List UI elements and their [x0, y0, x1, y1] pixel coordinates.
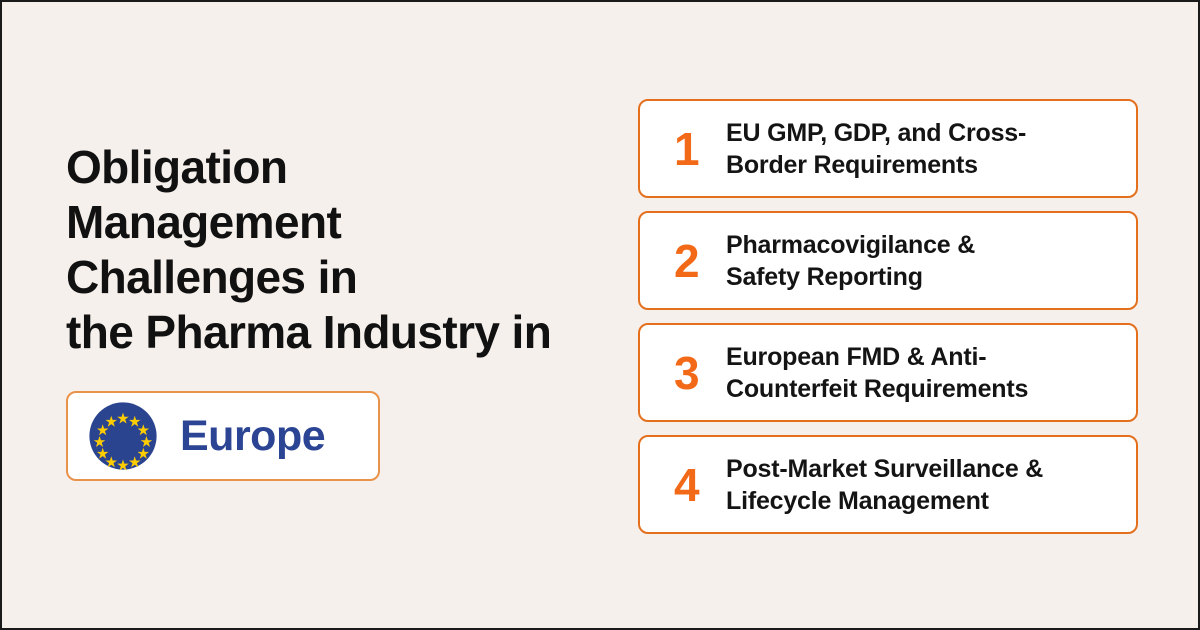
card-number: 2: [674, 238, 726, 284]
challenge-card[interactable]: 1 EU GMP, GDP, and Cross- Border Require…: [638, 99, 1138, 198]
headline-block: Obligation Management Challenges in the …: [66, 140, 606, 360]
card-label: Pharmacovigilance & Safety Reporting: [726, 229, 1120, 293]
page-title: Obligation Management Challenges in the …: [66, 140, 606, 360]
challenge-card[interactable]: 4 Post-Market Surveillance & Lifecycle M…: [638, 435, 1138, 534]
card-label: European FMD & Anti- Counterfeit Require…: [726, 341, 1120, 405]
challenge-card-list: 1 EU GMP, GDP, and Cross- Border Require…: [638, 99, 1138, 534]
european-union-flag-icon: [88, 401, 158, 471]
challenge-card[interactable]: 2 Pharmacovigilance & Safety Reporting: [638, 211, 1138, 310]
infographic-canvas: Obligation Management Challenges in the …: [0, 0, 1200, 630]
card-number: 3: [674, 350, 726, 396]
challenge-card[interactable]: 3 European FMD & Anti- Counterfeit Requi…: [638, 323, 1138, 422]
card-label: EU GMP, GDP, and Cross- Border Requireme…: [726, 117, 1120, 181]
card-number: 1: [674, 126, 726, 172]
region-badge: Europe: [66, 391, 380, 481]
card-label: Post-Market Surveillance & Lifecycle Man…: [726, 453, 1120, 517]
region-badge-label: Europe: [180, 415, 325, 458]
card-number: 4: [674, 462, 726, 508]
